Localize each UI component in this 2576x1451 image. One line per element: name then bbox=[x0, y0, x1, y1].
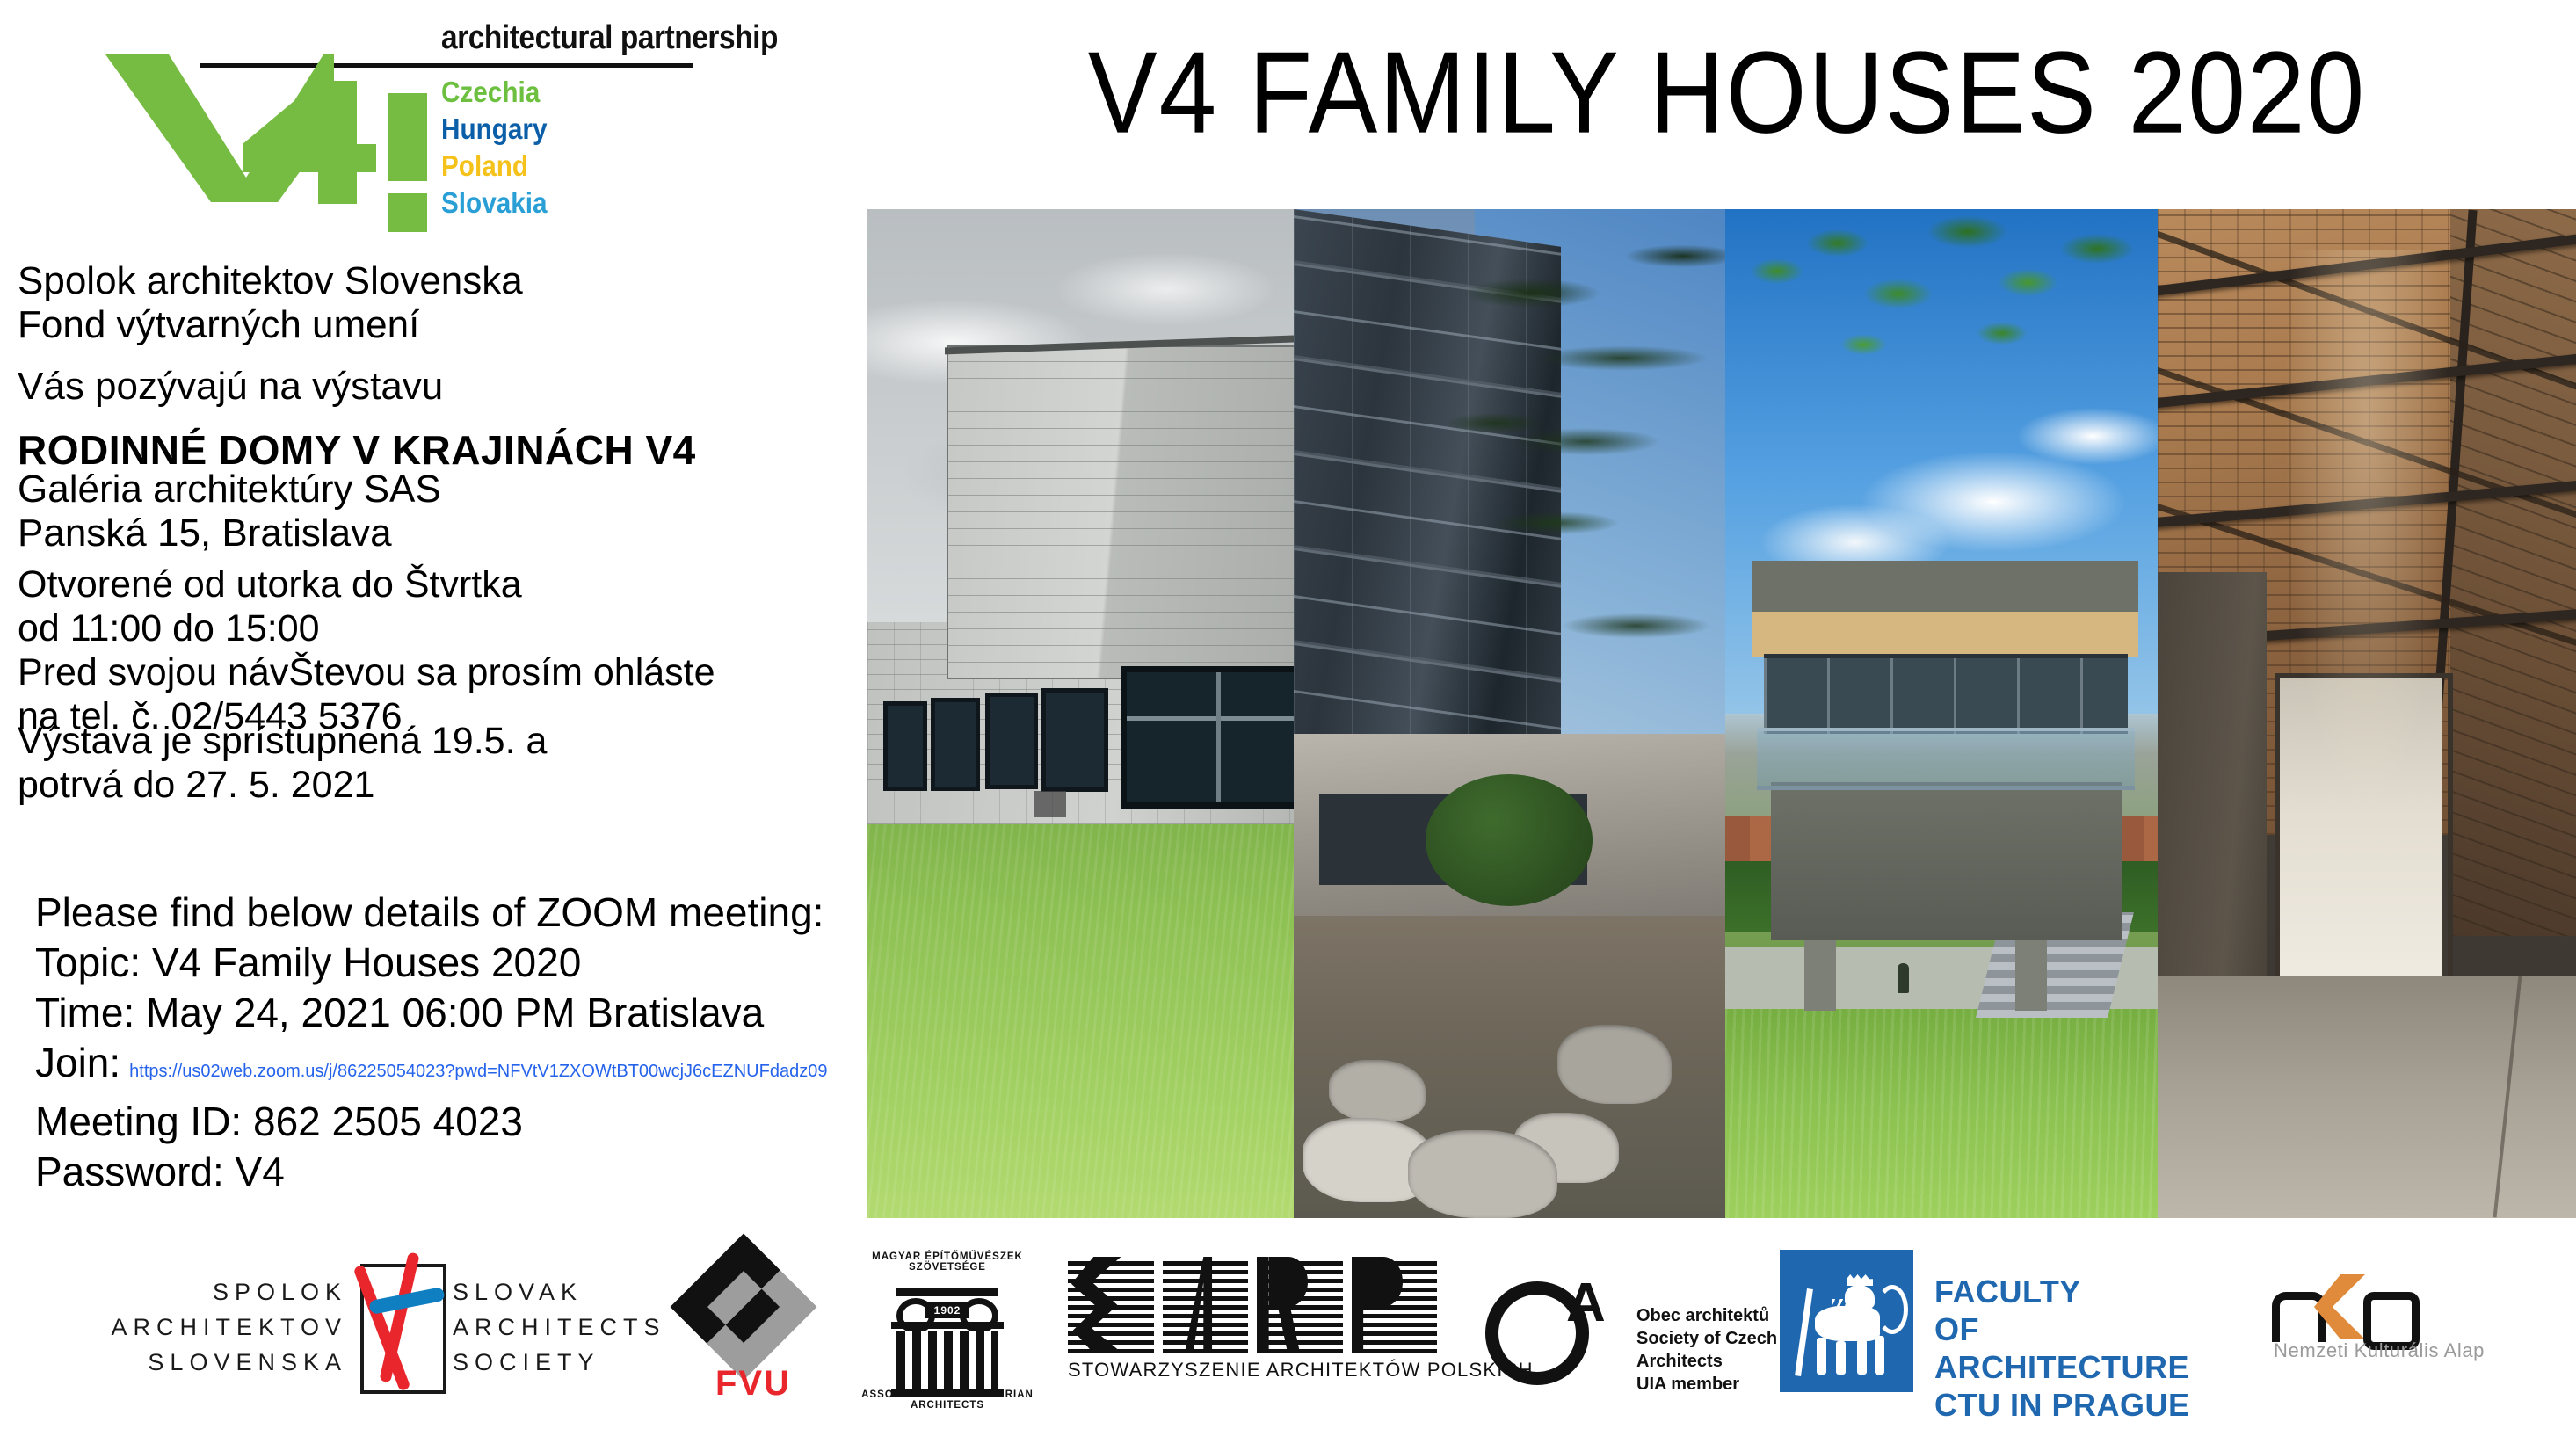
logo-country-poland: Poland bbox=[441, 151, 528, 180]
logo-tagline: architectural partnership bbox=[441, 19, 778, 57]
ionic-column-icon: 1902 bbox=[896, 1288, 998, 1318]
zoom-intro: Please find below details of ZOOM meetin… bbox=[35, 888, 861, 938]
photo-cantilever-house bbox=[1725, 209, 2158, 1218]
organizers-text: Spolok architektov Slovenska Fond výtvar… bbox=[18, 259, 523, 347]
invitation-line: Vás pozývajú na výstavu bbox=[18, 365, 443, 409]
ctu-lion-badge-icon bbox=[1780, 1250, 1913, 1392]
v4-partnership-logo: architectural partnership Czechia Hungar… bbox=[97, 16, 791, 205]
logo-faculty-architecture-ctu-prague: FACULTY OF ARCHITECTURE CTU IN PRAGUE bbox=[1780, 1250, 2237, 1399]
logo-association-hungarian-architects: MAGYAR ÉPÍTŐMŰVÉSZEK SZÖVETSÉGE 1902 ASS… bbox=[861, 1250, 1037, 1412]
sarp-subtitle: STOWARZYSZENIE ARCHITEKTÓW POLSKICH bbox=[1068, 1359, 1437, 1382]
ctu-name-text: FACULTY OF ARCHITECTURE CTU IN PRAGUE bbox=[1934, 1273, 2237, 1424]
v4-mark-icon bbox=[105, 54, 431, 202]
photo-house-grey-brick bbox=[867, 209, 1294, 1218]
mesz-name-hu: MAGYAR ÉPÍTŐMŰVÉSZEK SZÖVETSÉGE bbox=[861, 1251, 1034, 1273]
opening-hours-text: Otvorené od utorka do Štvrtka od 11:00 d… bbox=[18, 562, 715, 738]
photo-brick-vault-interior bbox=[2158, 209, 2576, 1218]
logo-country-czechia: Czechia bbox=[441, 77, 540, 106]
sas-name-en: SLOVAK ARCHITECTS SOCIETY bbox=[453, 1274, 681, 1380]
zoom-time: Time: May 24, 2021 06:00 PM Bratislava bbox=[35, 988, 861, 1038]
zoom-password: Password: V4 bbox=[35, 1147, 861, 1197]
zoom-meeting-id: Meeting ID: 862 2505 4023 bbox=[35, 1097, 861, 1147]
mesz-year: 1902 bbox=[925, 1302, 969, 1318]
venue-address: Galéria architektúry SAS Panská 15, Brat… bbox=[18, 468, 441, 555]
nka-subtitle: Nemzeti Kulturális Alap bbox=[2274, 1339, 2485, 1362]
photo-glass-facade bbox=[1294, 209, 1725, 1218]
zoom-join-link[interactable]: https://us02web.zoom.us/j/86225054023?pw… bbox=[129, 1047, 827, 1097]
zoom-join-label: Join: bbox=[35, 1038, 120, 1088]
zoom-join-row: Join: https://us02web.zoom.us/j/86225054… bbox=[35, 1038, 861, 1097]
page-title: V4 FAMILY HOUSES 2020 bbox=[905, 37, 2549, 150]
sas-name-sk: SPOLOK ARCHITEKTOV SLOVENSKA bbox=[92, 1274, 347, 1380]
exhibition-dates-text: Výstava je sprístupnená 19.5. a potrvá d… bbox=[18, 719, 547, 807]
logo-sarp: STOWARZYSZENIE ARCHITEKTÓW POLSKICH bbox=[1068, 1257, 1437, 1389]
nka-chevron-icon bbox=[2314, 1274, 2367, 1339]
zoom-meeting-details: Please find below details of ZOOM meetin… bbox=[35, 888, 861, 1197]
footer-logo-row: SPOLOK ARCHITEKTOV SLOVENSKA SLOVAK ARCH… bbox=[0, 1230, 2576, 1451]
fvu-label: FVU bbox=[683, 1364, 824, 1404]
photo-strip bbox=[867, 209, 2576, 1218]
sas-a-mark-icon bbox=[360, 1264, 446, 1394]
logo-fvu: FVU bbox=[672, 1255, 831, 1404]
zoom-topic: Topic: V4 Family Houses 2020 bbox=[35, 938, 861, 988]
logo-country-hungary: Hungary bbox=[441, 114, 547, 143]
fvu-diamond-icon bbox=[671, 1234, 817, 1381]
sarp-letters-icon bbox=[1068, 1257, 1437, 1353]
logo-slovak-architects-society: SPOLOK ARCHITEKTOV SLOVENSKA SLOVAK ARCH… bbox=[92, 1257, 672, 1402]
oa-a-letter: A bbox=[1566, 1276, 1606, 1331]
logo-nemzeti-kulturalis-alap: Nemzeti Kulturális Alap bbox=[2272, 1278, 2536, 1375]
mesz-name-en: ASSOCIATION OF HUNGARIAN ARCHITECTS bbox=[861, 1389, 1034, 1411]
logo-country-slovakia: Slovakia bbox=[441, 188, 548, 217]
